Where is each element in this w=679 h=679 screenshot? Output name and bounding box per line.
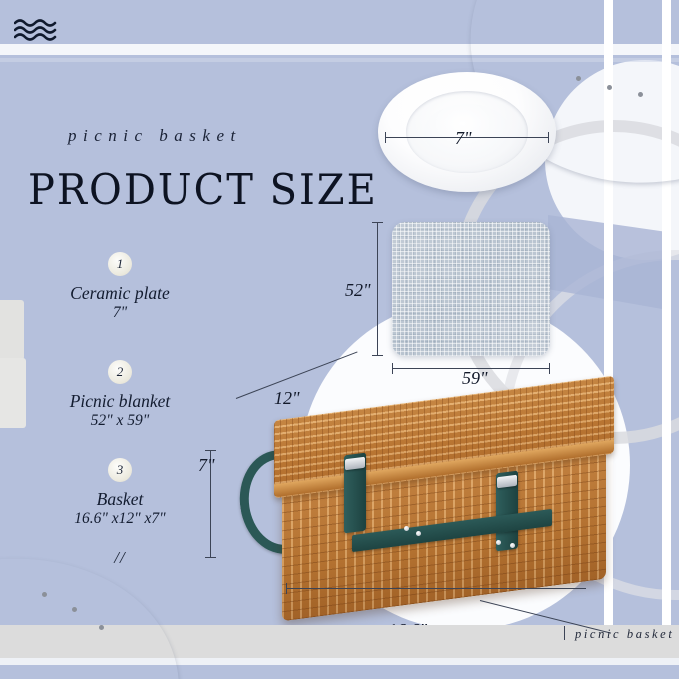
belt-hole (576, 76, 581, 81)
basket-height-tick-bottom (205, 557, 216, 558)
wave-lines-icon (14, 18, 58, 42)
list-item-number: 1 (108, 252, 132, 276)
list-item-dimensions: 7" (20, 304, 220, 323)
blanket-width-tick-right (549, 363, 550, 374)
blanket-height-tick-top (372, 222, 383, 223)
list-item: 1 Ceramic plate 7" (20, 252, 220, 323)
belt-hole (638, 92, 643, 97)
basket-width-line (286, 588, 586, 589)
list-item-dimensions: 16.6" x12" x7" (20, 510, 220, 529)
basket-height-tick-top (205, 450, 216, 451)
product-size-infographic: picnic basket PRODUCT SIZE 1 Ceramic pla… (0, 0, 679, 679)
belt-hole (607, 85, 612, 90)
list-item: 2 Picnic blanket 52" x 59" (20, 360, 220, 431)
list-item-label: Basket (20, 489, 220, 509)
basket-rivet (496, 540, 501, 545)
plate-dimension-tick-left (385, 132, 386, 143)
footer-tick (564, 626, 565, 640)
basket-rivet (510, 543, 515, 548)
blanket-height-label: 52" (345, 280, 371, 301)
belt-hole (72, 607, 77, 612)
plate-dimension-tick-right (548, 132, 549, 143)
basket-width-tick-left (286, 583, 287, 594)
basket-rivet (404, 526, 409, 531)
basket-depth-label: 12" (274, 388, 300, 409)
blanket-width-label: 59" (462, 368, 488, 389)
blanket-height-line (377, 222, 378, 356)
basket-height-label: 7" (198, 455, 215, 476)
list-item-label: Picnic blanket (20, 391, 220, 411)
picnic-basket-image (252, 398, 624, 613)
list-item-number: 3 (108, 458, 132, 482)
list-item-dimensions: 52" x 59" (20, 412, 220, 431)
belt-hole (99, 625, 104, 630)
blanket-width-tick-left (392, 363, 393, 374)
eyebrow-text: picnic basket (68, 126, 242, 146)
footer-brand-label: picnic basket (575, 627, 674, 642)
list-item-number: 2 (108, 360, 132, 384)
basket-rivet (416, 531, 421, 536)
belt-hole (42, 592, 47, 597)
page-title: PRODUCT SIZE (28, 166, 378, 215)
picnic-blanket-swatch (392, 222, 550, 356)
plate-dimension-label: 7" (455, 128, 472, 149)
list-item-label: Ceramic plate (20, 283, 220, 303)
blanket-height-tick-bottom (372, 355, 383, 356)
list-item: 3 Basket 16.6" x12" x7" (20, 458, 220, 529)
